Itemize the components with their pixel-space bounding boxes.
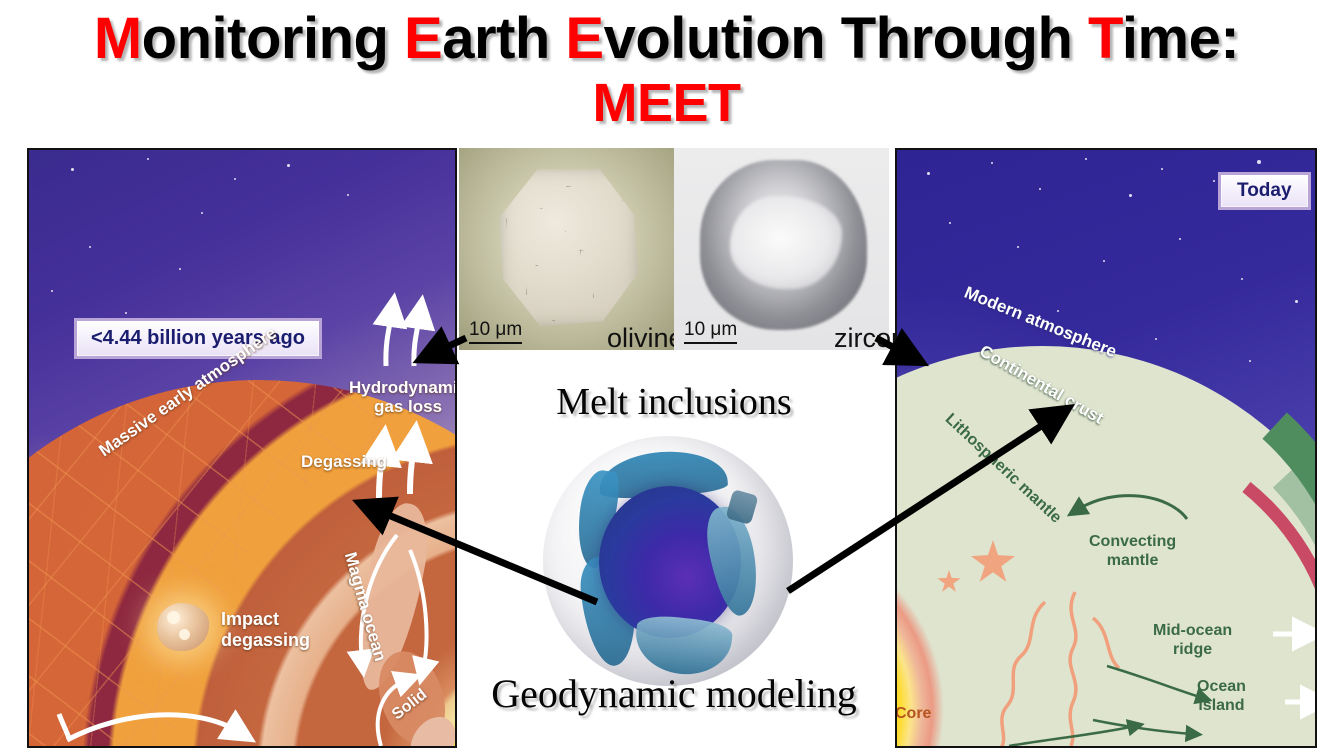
olivine-crystal bbox=[498, 166, 640, 328]
label-hydrodynamic-line2: gas loss bbox=[349, 397, 457, 416]
title-initial-e2: E bbox=[565, 6, 603, 71]
label-ocean-island-line2: island bbox=[1197, 697, 1246, 716]
micrograph-olivine: 10 μm olivine bbox=[459, 148, 674, 350]
magma-ocean-descent-arrow bbox=[410, 550, 427, 670]
label-geodynamic-modeling: Geodynamic modeling bbox=[459, 670, 889, 717]
label-convecting-line2: mantle bbox=[1089, 552, 1176, 571]
page-title: Monitoring Earth Evolution Through Time: bbox=[0, 0, 1333, 72]
label-ocean-island-line1: Ocean bbox=[1197, 678, 1246, 697]
label-impact-degassing: Impact degassing bbox=[221, 609, 310, 650]
label-convecting-mantle: Convecting mantle bbox=[1089, 533, 1176, 570]
panel-early-earth: <4.44 billion years ago Massive early at… bbox=[27, 148, 457, 748]
panel-center-methods: Melt inclusions Geodynamic modeling bbox=[459, 350, 889, 748]
label-mor-line1: Mid-ocean bbox=[1153, 622, 1232, 641]
title-initial-m: M bbox=[94, 6, 142, 71]
label-hydrodynamic-gas-loss: Hydrodynamic gas loss bbox=[349, 378, 457, 417]
title-initial-e1: E bbox=[404, 6, 442, 71]
title-text-arth: arth bbox=[442, 6, 565, 71]
panel-today-earth: Today Modern atmosphere Continental crus… bbox=[895, 148, 1317, 748]
figure-title-block: Monitoring Earth Evolution Through Time:… bbox=[0, 0, 1333, 140]
convecting-mantle-arrow bbox=[1077, 496, 1187, 519]
gas-loss-arrow bbox=[414, 314, 420, 366]
scalebar-label-zircon: 10 μm bbox=[684, 319, 737, 344]
degassing-arrow bbox=[410, 444, 414, 494]
label-ocean-island: Ocean island bbox=[1197, 678, 1246, 715]
label-mid-ocean-ridge: Mid-ocean ridge bbox=[1153, 622, 1232, 659]
label-mor-line2: ridge bbox=[1153, 641, 1232, 660]
mantle-lobe-bottom bbox=[632, 613, 733, 679]
label-hydrodynamic-line1: Hydrodynamic bbox=[349, 378, 457, 397]
project-acronym: MEET bbox=[0, 72, 1333, 134]
today-panel-overlay bbox=[897, 150, 1317, 748]
micrograph-zircon: 10 μm zircon bbox=[674, 148, 889, 350]
olivine-facet bbox=[580, 244, 631, 315]
label-impact-line1: Impact bbox=[221, 609, 310, 630]
ocean-island-arrow-upper bbox=[1107, 666, 1203, 698]
early-panel-arrow-overlay bbox=[29, 150, 457, 748]
title-initial-t: T bbox=[1088, 6, 1122, 71]
label-core: Core bbox=[895, 705, 931, 723]
mantle-plume-squiggle bbox=[1070, 592, 1076, 746]
figure-root: Monitoring Earth Evolution Through Time:… bbox=[0, 0, 1333, 750]
microscope-image-strip: 10 μm olivine 10 μm zircon bbox=[459, 148, 889, 350]
scalebar-olivine: 10 μm bbox=[469, 319, 522, 344]
gas-loss-arrow bbox=[386, 312, 392, 366]
scalebar-label-olivine: 10 μm bbox=[469, 319, 522, 344]
mantle-plume-squiggle bbox=[1093, 618, 1119, 668]
label-melt-inclusions: Melt inclusions bbox=[459, 380, 889, 424]
label-impact-line2: degassing bbox=[221, 630, 310, 651]
circulation-arrow-tail bbox=[59, 714, 69, 738]
era-badge-early: <4.44 billion years ago bbox=[74, 318, 322, 359]
title-text-volution: volution Through bbox=[604, 6, 1088, 71]
label-convecting-line1: Convecting bbox=[1089, 533, 1176, 552]
mantle-plume-squiggle bbox=[1001, 602, 1045, 748]
title-text-onitoring: onitoring bbox=[142, 6, 404, 71]
circulation-arrow bbox=[67, 715, 239, 740]
era-badge-today: Today bbox=[1218, 172, 1311, 210]
title-text-ime: ime: bbox=[1122, 6, 1239, 71]
olivine-facet bbox=[560, 186, 622, 251]
scalebar-zircon: 10 μm bbox=[684, 319, 737, 344]
label-degassing: Degassing bbox=[301, 452, 387, 471]
geodynamic-model-sphere bbox=[543, 436, 793, 686]
